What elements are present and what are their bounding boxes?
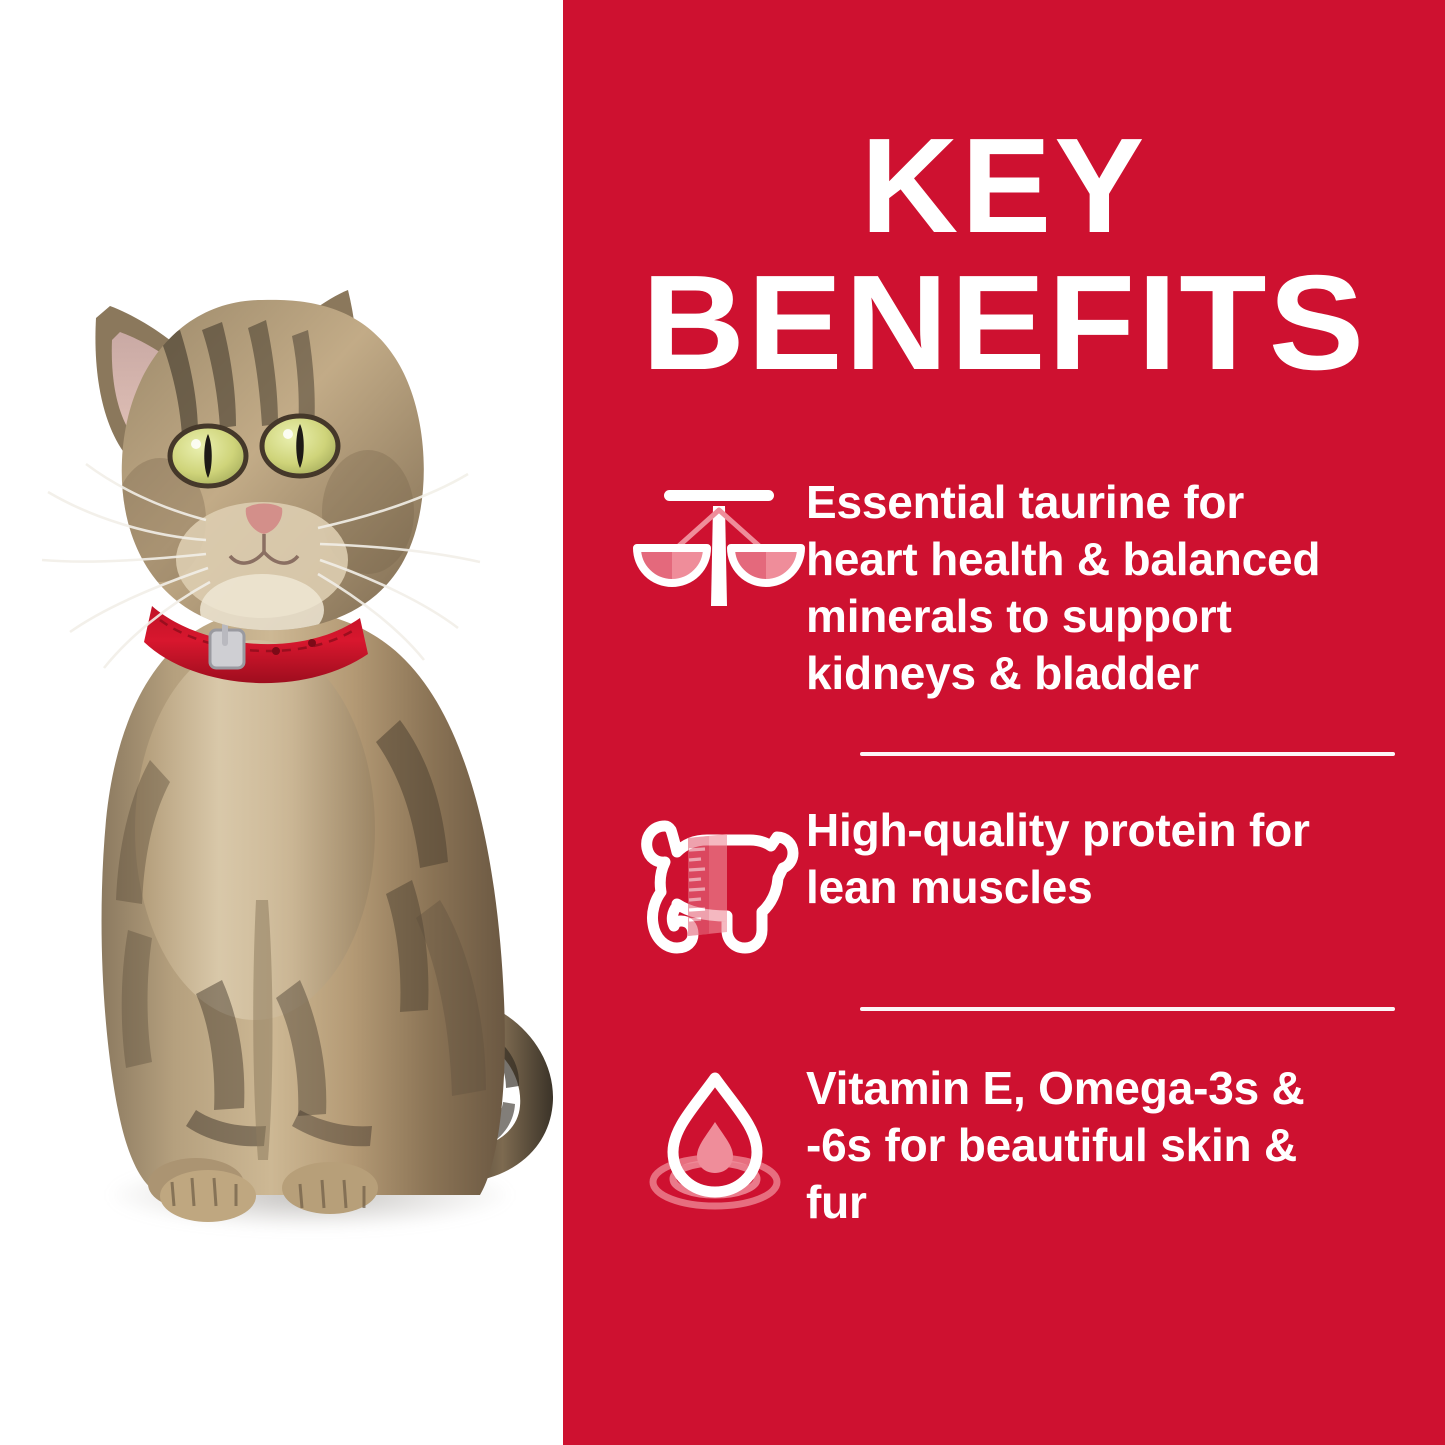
cat-photo-panel <box>0 0 563 1445</box>
benefit-divider-1 <box>860 752 1395 756</box>
page-title-line1: KEY <box>563 118 1445 253</box>
benefit-text-taurine: Essential taurine for heart health & bal… <box>806 470 1351 702</box>
benefit-divider-2 <box>860 1007 1395 1011</box>
cat-body <box>102 610 505 1222</box>
tabby-cat-illustration <box>0 0 563 1445</box>
benefit-text-protein: High-quality protein for lean muscles <box>806 798 1351 916</box>
cat-measuring-tape-icon <box>631 798 806 963</box>
benefit-item-skin-fur: Vitamin E, Omega-3s & -6s for beautiful … <box>563 1056 1445 1231</box>
benefit-item-protein: High-quality protein for lean muscles <box>563 798 1445 963</box>
balance-scales-icon <box>631 470 806 630</box>
cat-photo <box>0 0 563 1445</box>
key-benefits-panel: KEY BENEFITS <box>0 0 1445 1445</box>
cat-head <box>42 290 480 668</box>
benefits-list: Essential taurine for heart health & bal… <box>563 470 1445 1231</box>
benefits-red-panel: KEY BENEFITS <box>563 0 1445 1445</box>
benefit-text-skin-fur: Vitamin E, Omega-3s & -6s for beautiful … <box>806 1056 1351 1231</box>
page-title: KEY BENEFITS <box>563 118 1445 390</box>
benefit-item-taurine: Essential taurine for heart health & bal… <box>563 470 1445 702</box>
water-droplet-ripple-icon <box>631 1056 806 1216</box>
page-title-line2: BENEFITS <box>537 255 1445 390</box>
